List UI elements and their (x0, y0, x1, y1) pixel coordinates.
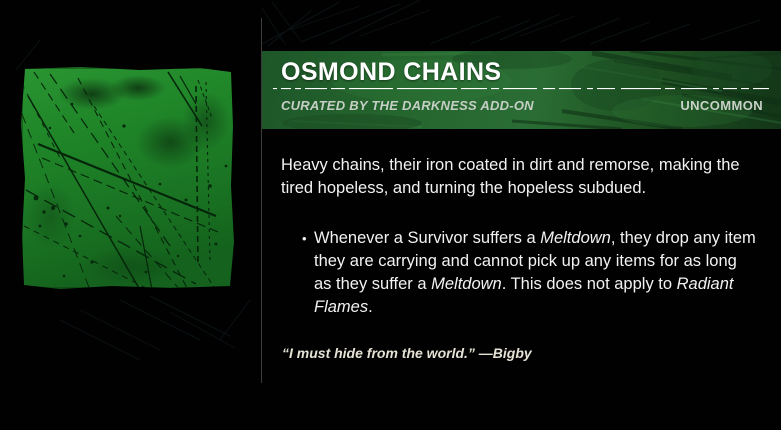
card-header: OSMOND CHAINS (262, 51, 781, 129)
header-divider (271, 87, 773, 91)
item-icon (20, 66, 237, 290)
osmond-chains-item-icon (20, 66, 237, 290)
item-effect: Whenever a Survivor suffers a Meltdown, … (302, 227, 757, 319)
rarity-label: UNCOMMON (680, 98, 763, 113)
effect-keyword: Meltdown (540, 229, 611, 247)
item-subtitle: CURATED BY THE DARKNESS ADD-ON (281, 98, 534, 113)
item-title: OSMOND CHAINS (281, 58, 501, 87)
item-effects-list: Whenever a Survivor suffers a Meltdown, … (302, 227, 757, 319)
effect-keyword: Meltdown (431, 275, 502, 293)
item-description: Heavy chains, their iron coated in dirt … (281, 154, 753, 200)
effect-text: . This does not apply to (502, 275, 677, 293)
effect-text: Whenever a Survivor suffers a (314, 229, 540, 247)
item-detail-card: OSMOND CHAINS (261, 18, 781, 383)
effect-text: . (368, 298, 373, 316)
flavor-text: “I must hide from the world.” —Bigby (282, 344, 752, 363)
item-card-screen: OSMOND CHAINS (0, 0, 781, 430)
